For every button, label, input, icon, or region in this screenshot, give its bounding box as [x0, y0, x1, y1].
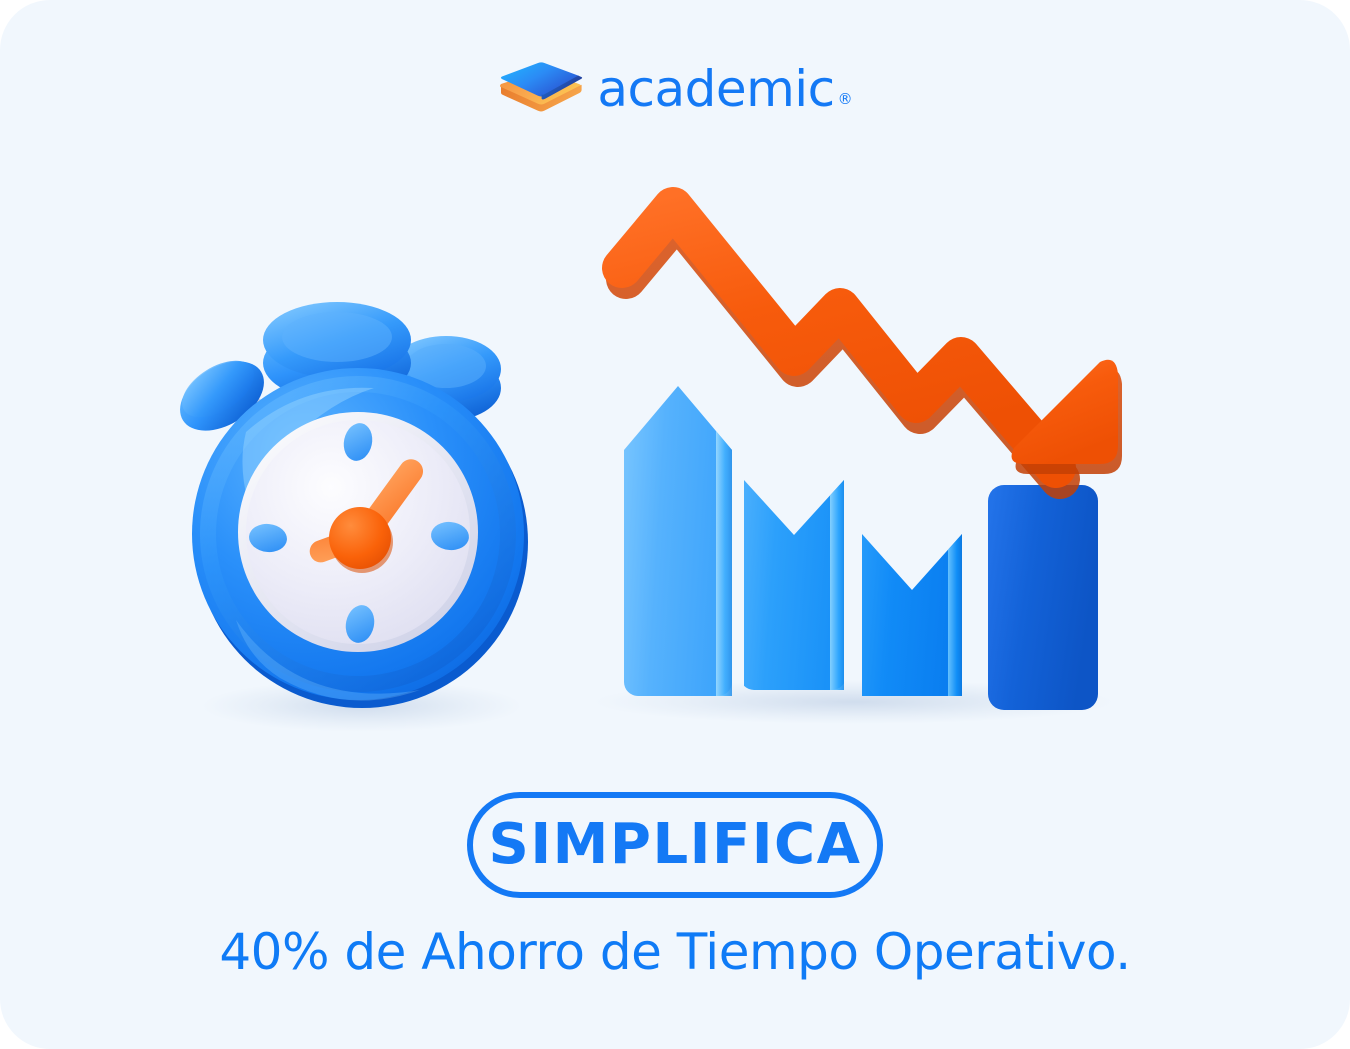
brand-wordmark: academic ® — [597, 64, 852, 114]
chart-bar-1 — [624, 250, 732, 696]
caption-text: 40% de Ahorro de Tiempo Operativo. — [0, 925, 1350, 980]
bar-chart-icon — [594, 207, 1122, 724]
chart-bar-4 — [988, 485, 1098, 710]
stacked-books-logo-icon — [497, 60, 583, 118]
brand-name: academic — [597, 64, 834, 114]
hand-hub — [329, 507, 391, 569]
stopwatch-icon — [168, 302, 528, 732]
promo-card: academic ® — [0, 0, 1350, 1049]
hero-svg — [0, 150, 1350, 770]
simplifica-badge-label: SIMPLIFICA — [489, 817, 862, 873]
registered-trademark-icon: ® — [838, 92, 853, 107]
hero-illustration — [0, 150, 1350, 770]
simplifica-badge[interactable]: SIMPLIFICA — [467, 792, 883, 898]
brand-lockup: academic ® — [0, 56, 1350, 122]
